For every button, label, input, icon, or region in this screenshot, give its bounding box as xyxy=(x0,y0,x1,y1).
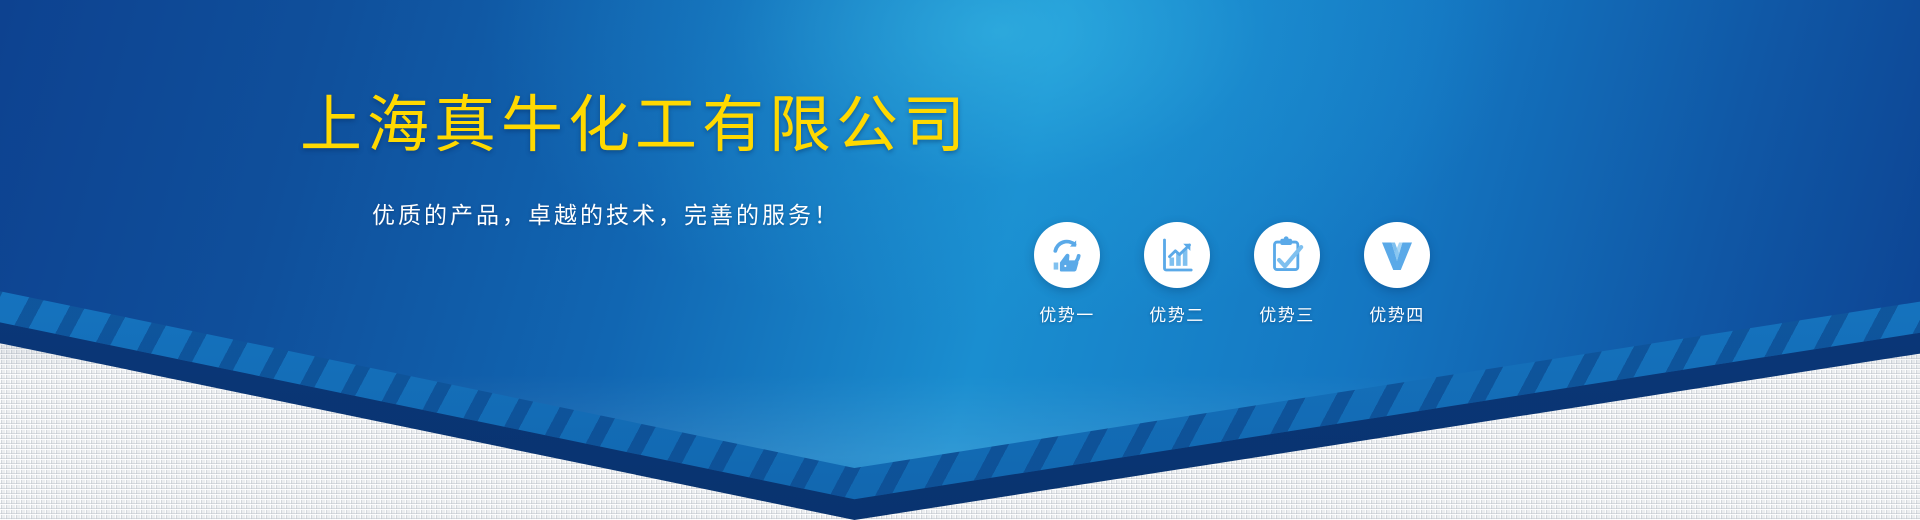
bar-chart-growth-icon xyxy=(1157,235,1197,275)
advantage-item-4[interactable]: 优势四 xyxy=(1358,222,1436,326)
advantage-label-2: 优势二 xyxy=(1149,301,1205,326)
company-hero-banner: 上海真牛化工有限公司 优质的产品，卓越的技术，完善的服务！ 优势一 xyxy=(0,0,1920,520)
page-subtitle: 优质的产品，卓越的技术，完善的服务！ xyxy=(372,196,840,230)
advantages-list: 优势一 优势二 xyxy=(1028,222,1436,326)
clipboard-check-icon xyxy=(1267,235,1307,275)
advantage-icon-circle-4 xyxy=(1364,222,1430,288)
advantage-icon-circle-1 xyxy=(1034,222,1100,288)
advantage-item-1[interactable]: 优势一 xyxy=(1028,222,1106,326)
advantage-item-2[interactable]: 优势二 xyxy=(1138,222,1216,326)
advantage-label-1: 优势一 xyxy=(1039,301,1095,326)
advantage-item-3[interactable]: 优势三 xyxy=(1248,222,1326,326)
refresh-thumbsup-icon xyxy=(1047,235,1087,275)
advantage-icon-circle-2 xyxy=(1144,222,1210,288)
page-title: 上海真牛化工有限公司 xyxy=(300,92,970,160)
v-shield-icon xyxy=(1377,235,1417,275)
advantage-label-3: 优势三 xyxy=(1259,301,1315,326)
advantage-icon-circle-3 xyxy=(1254,222,1320,288)
advantage-label-4: 优势四 xyxy=(1369,301,1425,326)
